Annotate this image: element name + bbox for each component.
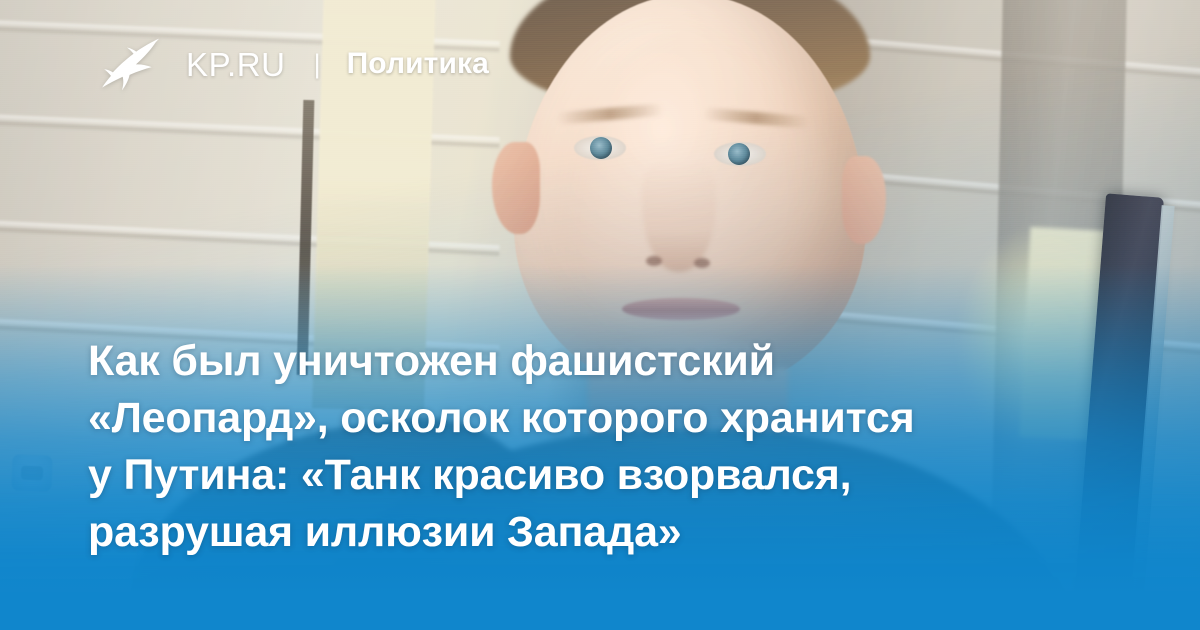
brand-header: KP.RU | Политика	[100, 34, 489, 94]
brand-separator: |	[314, 51, 321, 78]
headline: Как был уничтожен фашистский «Леопард», …	[88, 333, 1098, 561]
headline-line: «Леопард», осколок которого хранится	[88, 390, 1098, 447]
headline-line: у Путина: «Танк красиво взорвался,	[88, 447, 1098, 504]
rubric-label[interactable]: Политика	[347, 49, 489, 79]
share-card: KP.RU | Политика Как был уничтожен фашис…	[0, 0, 1200, 630]
headline-line: разрушая иллюзии Запада»	[88, 504, 1098, 561]
swallow-bird-logo-icon[interactable]	[100, 35, 162, 93]
headline-line: Как был уничтожен фашистский	[88, 333, 1098, 390]
brand-label[interactable]: KP.RU	[186, 48, 286, 81]
